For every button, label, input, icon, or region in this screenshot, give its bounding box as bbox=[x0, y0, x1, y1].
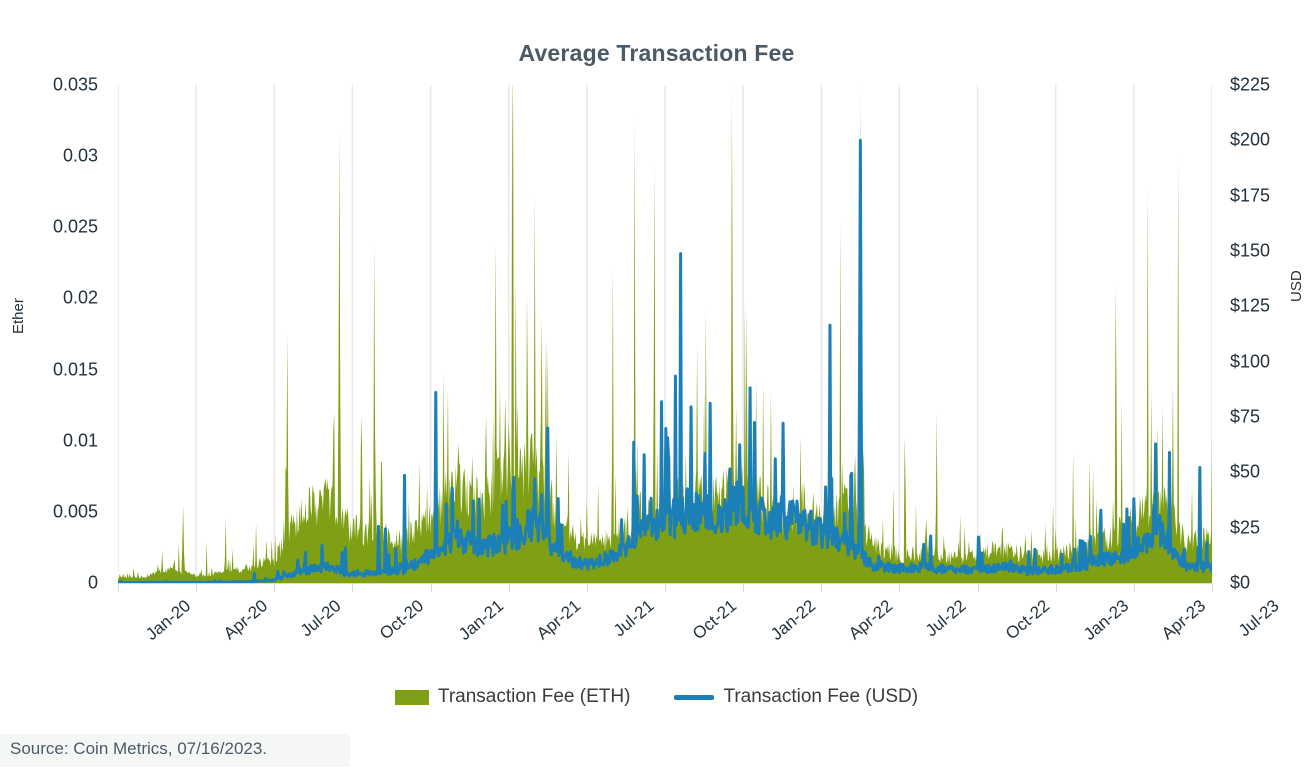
legend-item[interactable]: Transaction Fee (ETH) bbox=[395, 686, 631, 708]
y-axis-left-tick-label: 0 bbox=[88, 573, 98, 594]
x-axis-tick-label: Oct-21 bbox=[689, 596, 741, 644]
y-axis-left-tick-label: 0.005 bbox=[53, 501, 98, 522]
x-axis-tick-label: Jan-23 bbox=[1080, 596, 1133, 645]
y-axis-right-tick-label: $200 bbox=[1230, 130, 1270, 151]
x-axis-tick-label: Apr-21 bbox=[533, 596, 585, 644]
x-axis-tick-label: Apr-20 bbox=[220, 596, 272, 644]
chart-canvas: Average Transaction Fee 00.0050.010.0150… bbox=[0, 0, 1313, 779]
x-axis-tick-mark bbox=[665, 584, 666, 592]
y-axis-right-tick-label: $0 bbox=[1230, 573, 1250, 594]
plot-area bbox=[118, 85, 1212, 583]
source-note: Source: Coin Metrics, 07/16/2023. bbox=[10, 739, 267, 759]
x-axis-tick-mark bbox=[509, 584, 510, 592]
y-axis-left-tick-label: 0.02 bbox=[63, 288, 98, 309]
x-axis-tick-mark bbox=[118, 584, 119, 592]
chart-legend: Transaction Fee (ETH)Transaction Fee (US… bbox=[0, 686, 1313, 708]
legend-item-label: Transaction Fee (ETH) bbox=[438, 686, 631, 708]
x-axis-tick-mark bbox=[1212, 584, 1213, 592]
y-axis-left-ticks: 00.0050.010.0150.020.0250.030.035 bbox=[0, 85, 110, 583]
y-axis-left-tick-label: 0.025 bbox=[53, 217, 98, 238]
x-axis-tick-mark bbox=[274, 584, 275, 592]
y-axis-left-tick-label: 0.015 bbox=[53, 359, 98, 380]
x-axis-tick-label: Jul-20 bbox=[297, 596, 345, 641]
x-axis-tick-mark bbox=[1056, 584, 1057, 592]
legend-line-swatch-icon bbox=[674, 695, 714, 700]
x-axis-tick-mark bbox=[821, 584, 822, 592]
y-axis-right-tick-label: $225 bbox=[1230, 75, 1270, 96]
x-axis-tick-label: Apr-22 bbox=[845, 596, 897, 644]
y-axis-left-tick-label: 0.01 bbox=[63, 430, 98, 451]
x-axis-tick-mark bbox=[899, 584, 900, 592]
x-axis-tick-label: Oct-20 bbox=[376, 596, 428, 644]
x-axis-tick-label: Jul-23 bbox=[1235, 596, 1283, 641]
x-axis-tick-mark bbox=[352, 584, 353, 592]
y-axis-right-tick-label: $25 bbox=[1230, 517, 1260, 538]
y-axis-right-title: USD bbox=[1288, 270, 1305, 302]
x-axis-tick-mark bbox=[1134, 584, 1135, 592]
y-axis-right-tick-label: $100 bbox=[1230, 351, 1270, 372]
x-axis-tick-label: Apr-23 bbox=[1158, 596, 1210, 644]
x-axis-tick-label: Jan-21 bbox=[455, 596, 508, 645]
x-axis-tick-mark bbox=[587, 584, 588, 592]
x-axis-ticks: Jan-20Apr-20Jul-20Oct-20Jan-21Apr-21Jul-… bbox=[118, 584, 1212, 664]
y-axis-right-tick-label: $75 bbox=[1230, 407, 1260, 428]
x-axis-tick-label: Jan-22 bbox=[767, 596, 820, 645]
x-axis-tick-label: Jan-20 bbox=[142, 596, 195, 645]
chart-plot-svg bbox=[118, 85, 1212, 583]
y-axis-right-tick-label: $50 bbox=[1230, 462, 1260, 483]
x-axis-tick-mark bbox=[743, 584, 744, 592]
y-axis-right-tick-label: $175 bbox=[1230, 185, 1270, 206]
y-axis-right-ticks: $0$25$50$75$100$125$150$175$200$225 bbox=[1222, 85, 1312, 583]
x-axis-tick-label: Jul-21 bbox=[610, 596, 658, 641]
plot-frame bbox=[118, 85, 1212, 583]
x-axis-tick-label: Oct-22 bbox=[1002, 596, 1054, 644]
x-axis-tick-mark bbox=[196, 584, 197, 592]
legend-area-swatch-icon bbox=[395, 690, 429, 705]
page-title: Average Transaction Fee bbox=[0, 40, 1313, 67]
y-axis-left-tick-label: 0.035 bbox=[53, 75, 98, 96]
x-axis-tick-mark bbox=[978, 584, 979, 592]
x-axis-tick-mark bbox=[431, 584, 432, 592]
legend-item[interactable]: Transaction Fee (USD) bbox=[674, 686, 918, 708]
x-axis-tick-label: Jul-22 bbox=[922, 596, 970, 641]
legend-item-label: Transaction Fee (USD) bbox=[723, 686, 918, 708]
y-axis-right-tick-label: $150 bbox=[1230, 241, 1270, 262]
y-axis-left-title: Ether bbox=[10, 310, 27, 334]
y-axis-right-tick-label: $125 bbox=[1230, 296, 1270, 317]
y-axis-left-tick-label: 0.03 bbox=[63, 146, 98, 167]
